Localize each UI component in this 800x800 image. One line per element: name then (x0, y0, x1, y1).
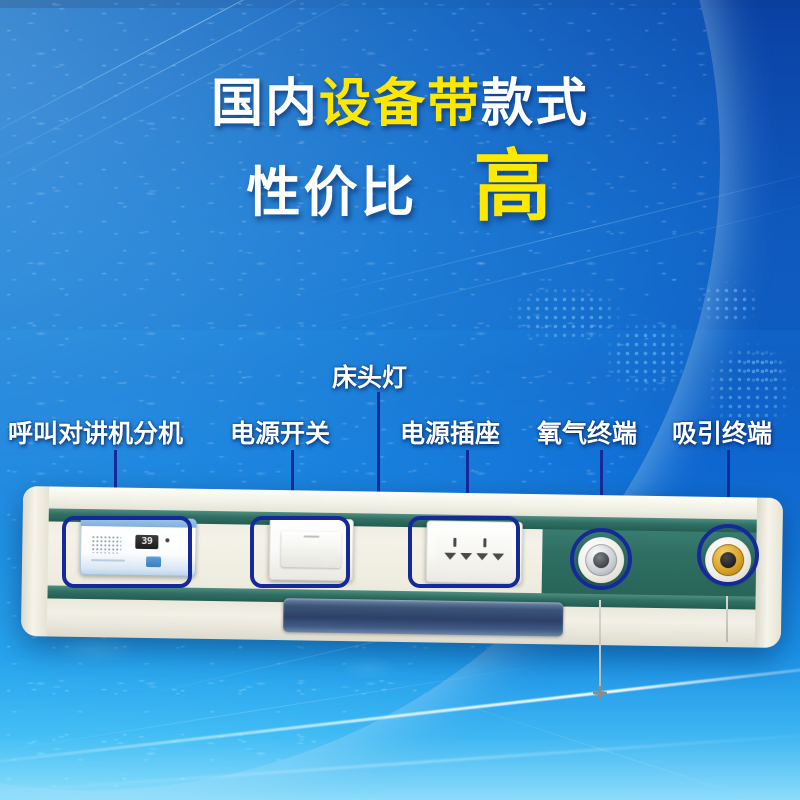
headline-line-1: 国内设备带款式 (0, 78, 800, 130)
suction-pull-cord[interactable] (726, 596, 728, 642)
headline-emphasis: 高 (473, 152, 553, 222)
callout-label-power-switch: 电源开关 (230, 414, 330, 450)
highlight-box-power-switch (250, 516, 350, 588)
headline-block: 国内设备带款式 性价比 高 (0, 78, 800, 130)
callout-label-power-socket: 电源插座 (400, 414, 500, 450)
headline-part-3: 款式 (481, 74, 589, 134)
headline-part-2: 设备带 (319, 74, 481, 134)
panel-end-cap-left (21, 486, 49, 636)
callout-label-intercom: 呼叫对讲机分机 (8, 414, 183, 450)
highlight-box-intercom (62, 516, 192, 588)
panel-end-cap-right (755, 498, 783, 648)
bedside-lamp-diffuser[interactable] (283, 598, 563, 636)
highlight-circle-oxygen-terminal (570, 528, 632, 590)
highlight-circle-suction-terminal (697, 524, 759, 586)
callout-label-bedside-lamp: 床头灯 (332, 358, 407, 394)
oxygen-pull-cord[interactable] (599, 600, 601, 690)
headline-part-1: 国内 (211, 74, 319, 134)
highlight-box-power-socket (408, 516, 520, 588)
callout-label-oxygen-terminal: 氧气终端 (537, 414, 637, 450)
headline-line-2: 性价比 高 (0, 148, 800, 227)
callout-label-suction-terminal: 吸引终端 (672, 414, 772, 450)
headline-subtitle: 性价比 (246, 148, 417, 227)
product-promo-image: 国内设备带款式 性价比 高 呼叫对讲机分机 电源开关 床头灯 电源插座 氧气终端… (0, 0, 800, 800)
